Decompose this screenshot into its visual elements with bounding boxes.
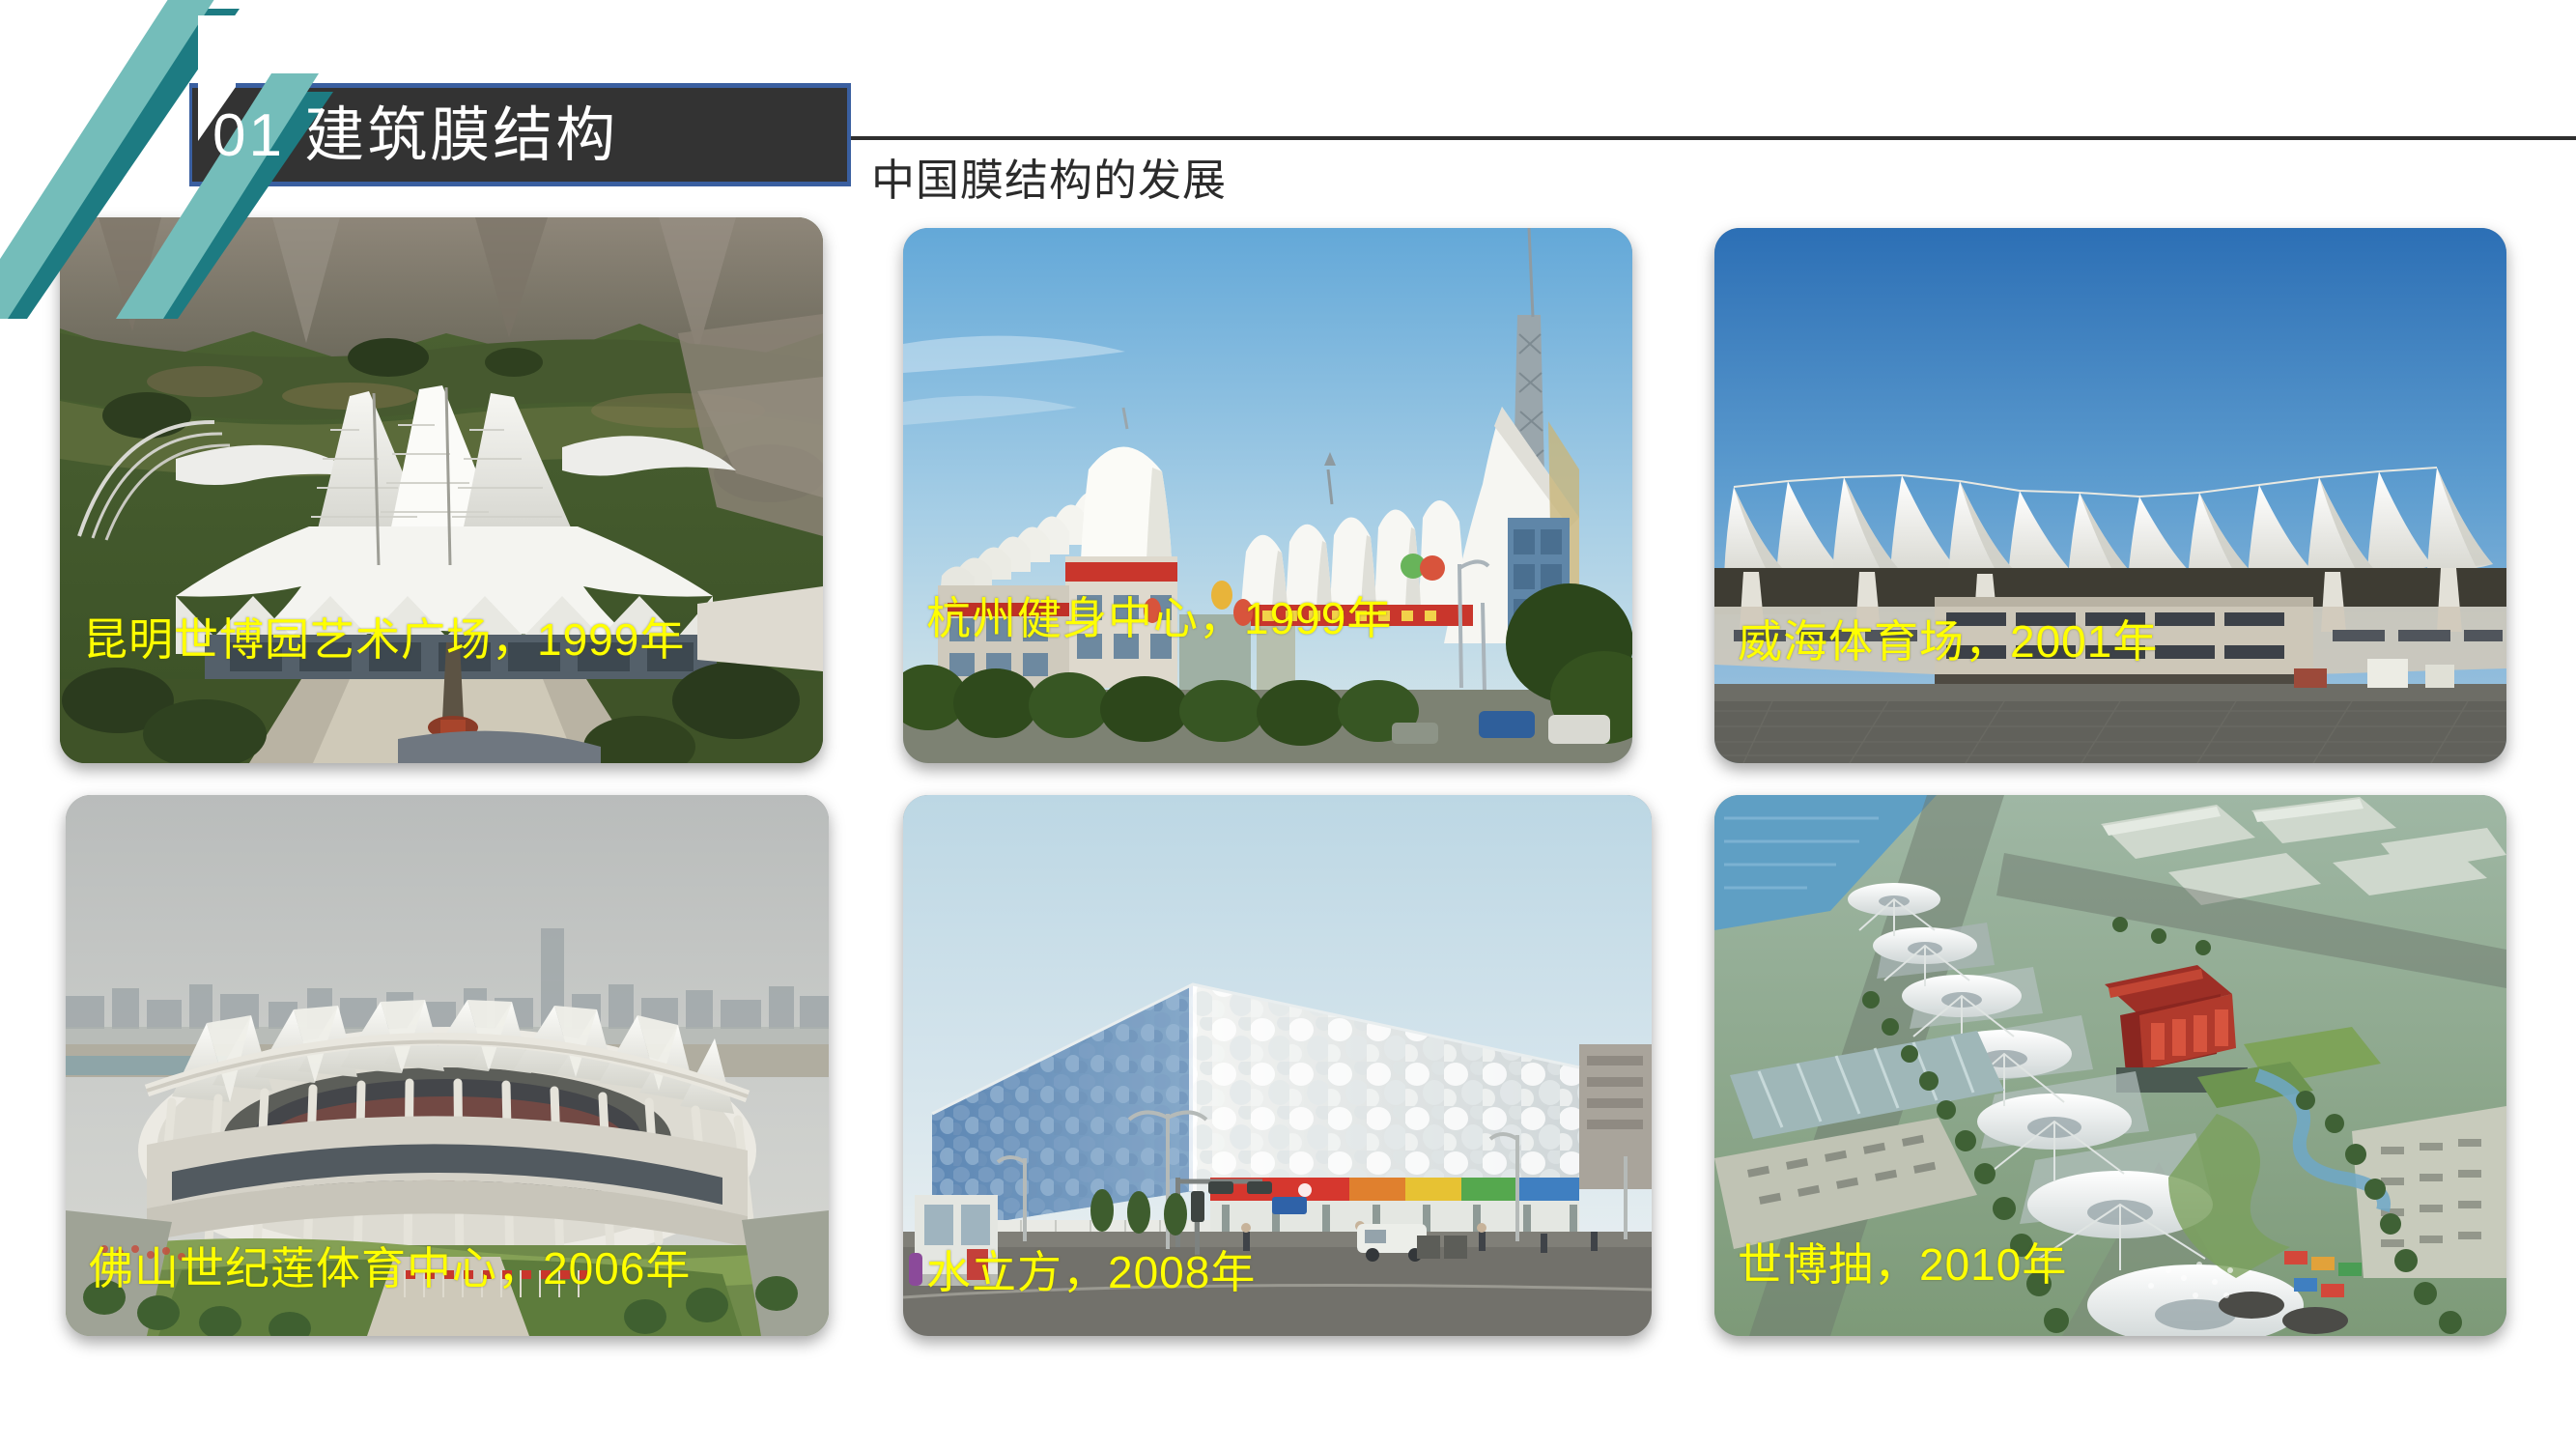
gallery-item-hangzhou[interactable]: 杭州健身中心，1999年 xyxy=(903,228,1632,763)
page-subtitle: 中国膜结构的发展 xyxy=(871,145,1227,208)
gallery-caption: 水立方，2008年 xyxy=(926,1237,1256,1301)
photo-gallery: 昆明世博园艺术广场，1999年 xyxy=(0,0,2576,1449)
photo-weihai-stadium xyxy=(1714,228,2506,763)
page-title: 01 建筑膜结构 xyxy=(212,89,850,184)
gallery-caption: 杭州健身中心，1999年 xyxy=(926,583,1392,647)
gallery-item-expo-axis[interactable]: 世博抽，2010年 xyxy=(1714,795,2506,1336)
gallery-item-foshan[interactable]: 佛山世纪莲体育中心，2006年 xyxy=(66,795,829,1336)
gallery-caption: 世博抽，2010年 xyxy=(1738,1230,2067,1293)
gallery-caption: 威海体育场，2001年 xyxy=(1738,607,2158,670)
gallery-item-weihai[interactable]: 威海体育场，2001年 xyxy=(1714,228,2506,763)
gallery-caption: 昆明世博园艺术广场，1999年 xyxy=(83,605,685,668)
gallery-item-water-cube[interactable]: 水立方，2008年 xyxy=(903,795,1652,1336)
gallery-caption: 佛山世纪莲体育中心，2006年 xyxy=(89,1234,691,1297)
photo-hangzhou-fitness-center xyxy=(903,228,1632,763)
photo-kunming-expo-art-plaza xyxy=(60,217,823,763)
header-divider xyxy=(850,136,2576,140)
gallery-item-kunming[interactable]: 昆明世博园艺术广场，1999年 xyxy=(60,217,823,763)
